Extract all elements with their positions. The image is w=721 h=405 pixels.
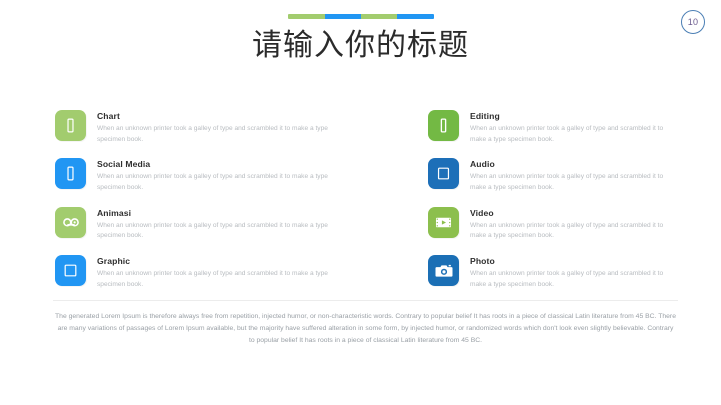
accent-segment-green-1 (288, 14, 326, 19)
feature-item-audio[interactable]: Audio When an unknown printer took a gal… (428, 158, 681, 193)
feature-title: Chart (97, 111, 333, 121)
graphic-icon (62, 262, 79, 279)
editing-icon-tile (428, 110, 459, 141)
feature-title: Audio (470, 159, 681, 169)
footer-paragraph: The generated Lorem Ipsum is therefore a… (55, 311, 676, 347)
feature-text-chart: Chart When an unknown printer took a gal… (97, 110, 333, 145)
accent-segment-blue-1 (325, 14, 361, 19)
feature-text-audio: Audio When an unknown printer took a gal… (470, 158, 681, 193)
slide-header: 请输入你的标题 (0, 0, 721, 65)
photo-icon-tile (428, 255, 459, 286)
feature-column-left: Chart When an unknown printer took a gal… (55, 110, 368, 290)
feature-description: When an unknown printer took a galley of… (97, 269, 333, 290)
page-number-label: 10 (688, 17, 699, 27)
feature-item-chart[interactable]: Chart When an unknown printer took a gal… (55, 110, 368, 145)
feature-item-graphic[interactable]: Graphic When an unknown printer took a g… (55, 255, 368, 290)
feature-text-social-media: Social Media When an unknown printer too… (97, 158, 333, 193)
animasi-icon (61, 212, 81, 232)
audio-icon (435, 165, 452, 182)
accent-segment-green-2 (361, 14, 397, 19)
footer-divider (53, 300, 678, 301)
feature-title: Photo (470, 256, 681, 266)
feature-title: Animasi (97, 208, 333, 218)
feature-description: When an unknown printer took a galley of… (470, 269, 681, 290)
feature-description: When an unknown printer took a galley of… (97, 221, 333, 242)
audio-icon-tile (428, 158, 459, 189)
feature-title: Editing (470, 111, 681, 121)
feature-grid: Chart When an unknown printer took a gal… (55, 110, 681, 290)
video-icon (434, 213, 453, 232)
feature-description: When an unknown printer took a galley of… (470, 124, 681, 145)
feature-title: Social Media (97, 159, 333, 169)
feature-title: Graphic (97, 256, 333, 266)
editing-icon (435, 117, 452, 134)
feature-column-right: Editing When an unknown printer took a g… (368, 110, 681, 290)
social-media-icon (62, 165, 79, 182)
feature-description: When an unknown printer took a galley of… (97, 124, 333, 145)
accent-segment-blue-2 (397, 14, 433, 19)
chart-icon-tile (55, 110, 86, 141)
feature-item-video[interactable]: Video When an unknown printer took a gal… (428, 207, 681, 242)
chart-icon (62, 117, 79, 134)
feature-description: When an unknown printer took a galley of… (97, 172, 333, 193)
photo-icon (434, 261, 454, 281)
page-title: 请输入你的标题 (0, 27, 721, 65)
feature-item-photo[interactable]: Photo When an unknown printer took a gal… (428, 255, 681, 290)
feature-text-graphic: Graphic When an unknown printer took a g… (97, 255, 333, 290)
page-number-badge: 10 (681, 10, 705, 34)
feature-text-animasi: Animasi When an unknown printer took a g… (97, 207, 333, 242)
feature-text-video: Video When an unknown printer took a gal… (470, 207, 681, 242)
feature-description: When an unknown printer took a galley of… (470, 221, 681, 242)
feature-item-animasi[interactable]: Animasi When an unknown printer took a g… (55, 207, 368, 242)
social-media-icon-tile (55, 158, 86, 189)
video-icon-tile (428, 207, 459, 238)
title-accent-bar (288, 14, 434, 19)
feature-item-editing[interactable]: Editing When an unknown printer took a g… (428, 110, 681, 145)
feature-text-photo: Photo When an unknown printer took a gal… (470, 255, 681, 290)
feature-item-social-media[interactable]: Social Media When an unknown printer too… (55, 158, 368, 193)
feature-text-editing: Editing When an unknown printer took a g… (470, 110, 681, 145)
graphic-icon-tile (55, 255, 86, 286)
feature-title: Video (470, 208, 681, 218)
animasi-icon-tile (55, 207, 86, 238)
feature-description: When an unknown printer took a galley of… (470, 172, 681, 193)
